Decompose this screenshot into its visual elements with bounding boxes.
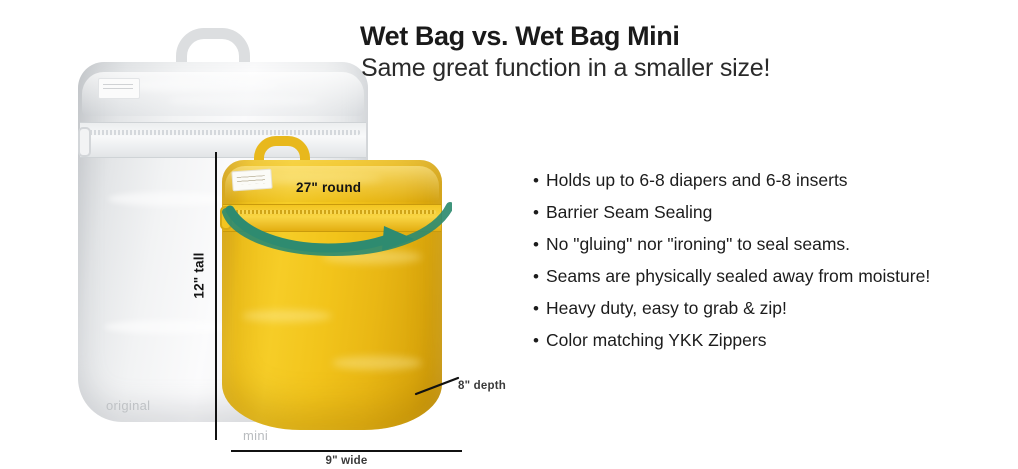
feature-list-item: • Holds up to 6-8 diapers and 6-8 insert… bbox=[533, 170, 953, 202]
measurement-label-wide: 9" wide bbox=[231, 455, 462, 467]
feature-text: Heavy duty, easy to grab & zip! bbox=[546, 298, 787, 319]
feature-list-item: • No "gluing" nor "ironing" to seal seam… bbox=[533, 234, 953, 266]
feature-list-item: • Heavy duty, easy to grab & zip! bbox=[533, 298, 953, 330]
feature-text: No "gluing" nor "ironing" to seal seams. bbox=[546, 234, 850, 255]
feature-text: Holds up to 6-8 diapers and 6-8 inserts bbox=[546, 170, 848, 191]
measurement-label-depth: 8" depth bbox=[458, 380, 506, 392]
feature-text: Seams are physically sealed away from mo… bbox=[546, 266, 930, 287]
measurement-label-tall: 12" tall bbox=[192, 252, 207, 298]
feature-list: • Holds up to 6-8 diapers and 6-8 insert… bbox=[533, 170, 953, 362]
measurement-line-tall bbox=[215, 152, 217, 440]
bullet-icon: • bbox=[533, 332, 546, 349]
page-title: Wet Bag vs. Wet Bag Mini bbox=[360, 21, 679, 52]
feature-list-item: • Color matching YKK Zippers bbox=[533, 330, 953, 362]
mini-bag-brand-tag bbox=[231, 169, 272, 192]
circumference-arrow-icon bbox=[222, 190, 452, 270]
product-caption-mini: mini bbox=[243, 428, 268, 443]
bullet-icon: • bbox=[533, 268, 546, 285]
feature-text: Barrier Seam Sealing bbox=[546, 202, 712, 223]
infographic-canvas: 27" round 12" tall 9" wide 8" depth orig… bbox=[0, 0, 1018, 469]
product-caption-original: original bbox=[106, 398, 150, 413]
bullet-icon: • bbox=[533, 236, 546, 253]
bullet-icon: • bbox=[533, 172, 546, 189]
feature-list-item: • Seams are physically sealed away from … bbox=[533, 266, 953, 298]
original-bag-zipper-pull bbox=[78, 127, 91, 157]
feature-text: Color matching YKK Zippers bbox=[546, 330, 766, 351]
original-bag-zipper-teeth bbox=[86, 130, 360, 135]
bullet-icon: • bbox=[533, 300, 546, 317]
page-subtitle: Same great function in a smaller size! bbox=[361, 54, 770, 83]
measurement-label-round: 27" round bbox=[296, 180, 361, 195]
bullet-icon: • bbox=[533, 204, 546, 221]
original-bag-brand-tag bbox=[98, 78, 140, 99]
measurement-line-wide bbox=[231, 450, 462, 452]
feature-list-item: • Barrier Seam Sealing bbox=[533, 202, 953, 234]
depth-leader-line bbox=[412, 372, 464, 400]
